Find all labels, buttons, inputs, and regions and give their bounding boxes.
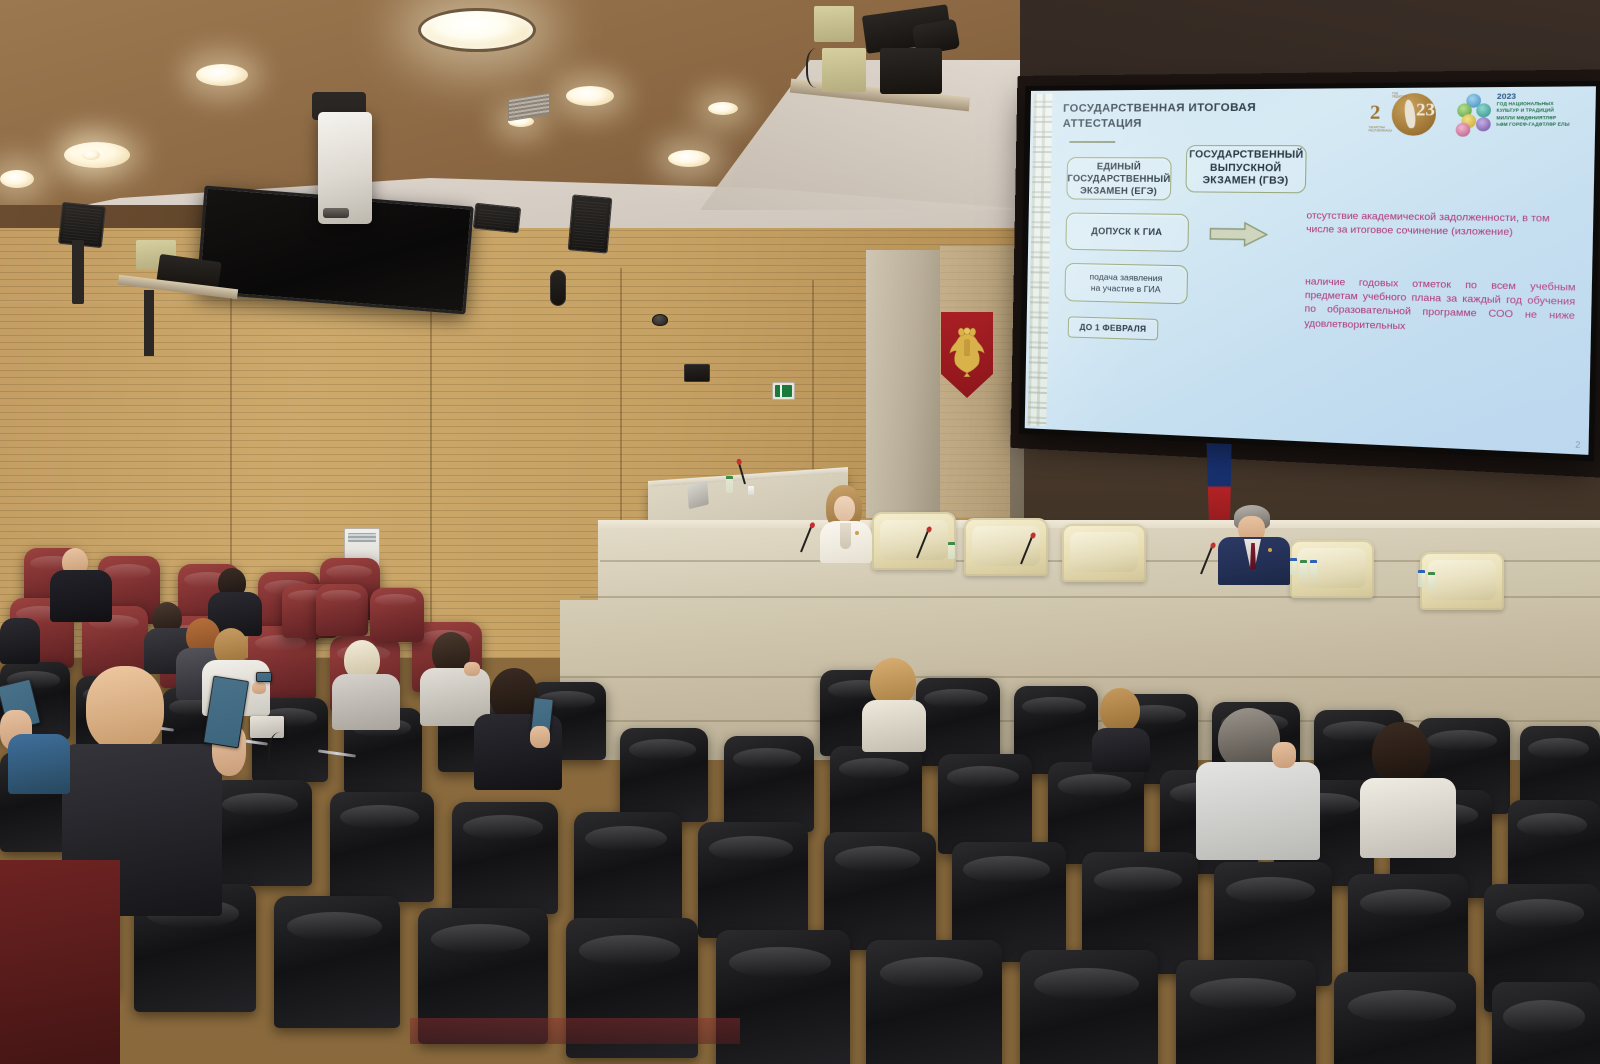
secondary-camera-pole (144, 290, 154, 356)
seat-r2-2[interactable] (724, 736, 814, 832)
ceiling-projector (318, 112, 372, 224)
slide-box-deadline: ДО 1 ФЕВРАЛЯ (1068, 316, 1159, 340)
slide-title-line2: АТТЕСТАЦИЯ (1063, 116, 1294, 132)
speaker-left-pole (72, 240, 84, 304)
slide-box-podacha: подача заявления на участие в ГИА (1064, 263, 1188, 304)
attendee-torso (1092, 728, 1150, 772)
slide-content: 2 23 ТАТАРСТАН РЕСПУБЛИКАСЫ ГОД ПЕДАГОГА (1046, 86, 1596, 455)
year-logo-digit-right: 23 (1416, 99, 1435, 120)
slide-title-line1: ГОСУДАРСТВЕННАЯ ИТОГОВАЯ (1063, 100, 1294, 117)
logo-flower-cluster (1456, 94, 1495, 135)
slide-text-absence: отсутствие академической задолженности, … (1306, 209, 1577, 241)
dome-camera (652, 314, 668, 326)
national-culture-logo-icon: 2023 ГОД НАЦИОНАЛЬНЫХ КУЛЬТУР И ТРАДИЦИЙ… (1456, 91, 1587, 137)
seat-r3-5[interactable] (452, 802, 558, 914)
ceiling-light-7 (708, 102, 738, 115)
seat-r4-8[interactable] (1020, 950, 1158, 1064)
attendee-head (870, 658, 916, 706)
slide-box-dopusk: ДОПУСК К ГИА (1065, 213, 1189, 252)
national-logo-year: 2023 (1497, 91, 1516, 101)
seat-rightback-2[interactable] (316, 584, 368, 636)
attendee-hand-with-phone (190, 678, 270, 798)
seat-r4-7[interactable] (866, 940, 1002, 1064)
attendee-hand (530, 726, 550, 748)
seat-r2-1[interactable] (620, 728, 708, 822)
year-logo-icon: 2 23 ТАТАРСТАН РЕСПУБЛИКАСЫ ГОД ПЕДАГОГА (1367, 92, 1447, 137)
projector-lens (323, 208, 349, 218)
ceiling-light-6 (668, 150, 710, 167)
slide-page-number: 2 (1575, 440, 1580, 450)
exit-icon (775, 385, 792, 397)
box-gve-line1: ГОСУДАРСТВЕННЫЙ (1189, 149, 1303, 162)
attendee-torso (1196, 762, 1320, 860)
attendee-torso (8, 734, 70, 794)
attendee-head (1372, 722, 1430, 784)
attendee-torso (862, 700, 926, 752)
box-ege-line2: ГОСУДАРСТВЕННЫЙ (1067, 172, 1170, 185)
seat-r4-9[interactable] (1176, 960, 1316, 1064)
camera-cable (806, 48, 832, 88)
conference-hall-scene: 2 23 ТАТАРСТАН РЕСПУБЛИКАСЫ ГОД ПЕДАГОГА (0, 0, 1600, 1064)
right-arrow-icon (1209, 221, 1268, 247)
emergency-exit-sign (772, 382, 795, 400)
podium-glass (748, 486, 754, 495)
attendee-blonde-woman (330, 640, 402, 728)
camera-strap (268, 732, 298, 780)
projection-screen[interactable]: 2 23 ТАТАРСТАН РЕСПУБЛИКАСЫ ГОД ПЕДАГОГА (1019, 81, 1600, 462)
seat-r3-7[interactable] (698, 822, 808, 938)
flower-pink (1456, 123, 1471, 137)
attendee-dark-hair-woman-mid (474, 668, 566, 788)
attendee-torso (50, 570, 112, 622)
secondary-camera-mount (118, 218, 228, 298)
slide-box-gve: ГОСУДАРСТВЕННЫЙ ВЫПУСКНОЙ ЭКЗАМЕН (ГВЭ) (1185, 145, 1306, 193)
camera-pan-head (880, 48, 942, 94)
slide-title-rule (1069, 141, 1115, 143)
camera-control-box-1 (814, 6, 854, 42)
national-logo-text: ГОД НАЦИОНАЛЬНЫХ КУЛЬТУР И ТРАДИЦИЙ МИЛЛ… (1496, 101, 1586, 129)
seat-rightback-3[interactable] (370, 588, 424, 642)
box-deadline-label: ДО 1 ФЕВРАЛЯ (1079, 322, 1146, 335)
attendee-head (1218, 708, 1280, 770)
seat-r4-3[interactable] (274, 896, 400, 1028)
attendee-hand (1272, 742, 1296, 768)
audience-seating-area (0, 540, 1600, 1064)
wall-speaker-upper-right (550, 270, 566, 306)
box-gve-line3: ЭКЗАМЕН (ГВЭ) (1189, 175, 1303, 189)
podium-water-bottle (726, 476, 733, 493)
attendee-woman-blonde-bun (856, 658, 930, 750)
ceiling-light-5 (566, 86, 614, 106)
flower-teal (1476, 103, 1491, 117)
aisle-step (410, 1018, 740, 1044)
speaker-badge (855, 531, 859, 535)
attendee-grey-hair-man-right (1196, 708, 1326, 858)
broadcast-camera-rig (790, 0, 970, 120)
slide-text-marks: наличие годовых отметок по всем учебным … (1304, 275, 1575, 338)
ceiling-light-4 (0, 170, 34, 188)
double-headed-eagle-icon (948, 324, 986, 378)
wall-speaker-lower (684, 364, 710, 382)
wall-speaker-right-of-monitor (473, 203, 521, 234)
seat-r2-4[interactable] (938, 754, 1032, 854)
attendee-bald-man-back-row (50, 548, 114, 622)
attendee-torso (0, 618, 40, 664)
year-logo-micro-top: ГОД ПЕДАГОГА (1392, 92, 1412, 99)
seat-r2-3[interactable] (830, 746, 922, 844)
speaker-face (834, 496, 855, 522)
slide-logos: 2 23 ТАТАРСТАН РЕСПУБЛИКАСЫ ГОД ПЕДАГОГА (1367, 91, 1586, 137)
podium-tablet (687, 481, 709, 510)
attendee-torso (332, 674, 400, 730)
attendee-head (86, 666, 164, 752)
box-ege-line3: ЭКЗАМЕН (ЕГЭ) (1067, 184, 1170, 197)
seat-r4-10[interactable] (1334, 972, 1476, 1064)
presentation-slide: 2 23 ТАТАРСТАН РЕСПУБЛИКАСЫ ГОД ПЕДАГОГА (1025, 86, 1596, 455)
national-logo-line4: ҺӘМ ГОРЕФ-ГАДӘТЛӘР ЕЛЫ (1496, 122, 1586, 129)
year-logo-micro-left: ТАТАРСТАН РЕСПУБЛИКАСЫ (1368, 126, 1392, 133)
flower-violet (1476, 117, 1491, 131)
attendee-head (1100, 688, 1140, 732)
attendee-partial-left-edge (0, 602, 40, 662)
ceiling-light-large-1 (418, 8, 536, 52)
attendee-dark-hair-woman-far-right (1356, 722, 1460, 856)
seat-r3-6[interactable] (574, 812, 682, 926)
attendee-torso (1360, 778, 1456, 858)
attendee-woman-ponytail (1092, 688, 1154, 770)
year-logo-digit-left: 2 (1370, 102, 1381, 125)
box-podacha-line2: на участие в ГИА (1089, 283, 1162, 296)
slide-box-ege: ЕДИНЫЙ ГОСУДАРСТВЕННЫЙ ЭКЗАМЕН (ЕГЭ) (1066, 157, 1171, 200)
attendee-hand-phone-left-edge (0, 682, 70, 792)
box-gve-line2: ВЫПУСКНОЙ (1189, 162, 1303, 176)
wall-speaker-mid (568, 194, 613, 253)
aisle-carpet-left (0, 860, 120, 1064)
seat-r3-4[interactable] (330, 792, 434, 902)
ceiling-light-8 (82, 150, 100, 160)
box-dopusk-label: ДОПУСК К ГИА (1091, 226, 1162, 239)
wall-pillar-light (866, 250, 940, 518)
box-ege-line1: ЕДИНЫЙ (1068, 160, 1171, 172)
ceiling-light-2 (196, 64, 248, 86)
slide-title: ГОСУДАРСТВЕННАЯ ИТОГОВАЯ АТТЕСТАЦИЯ (1063, 100, 1294, 132)
seat-r4-11[interactable] (1492, 982, 1600, 1064)
